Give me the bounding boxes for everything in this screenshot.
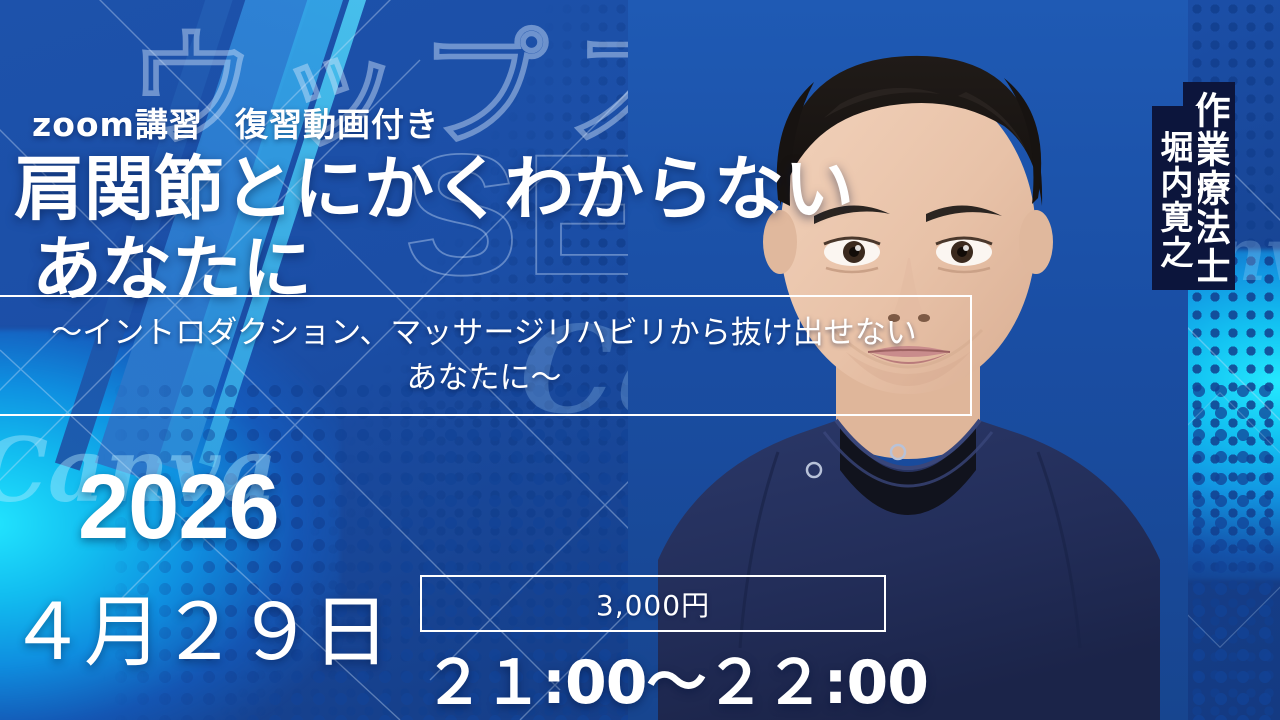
title-line-1: 肩関節とにかくわからない (14, 148, 854, 230)
page-title: 肩関節とにかくわからない あなたに (14, 150, 854, 310)
event-time: ２１:00〜２２:00 (424, 634, 928, 720)
price-box: 3,000円 (420, 575, 886, 632)
kicker-right: 復習動画付き (235, 105, 439, 144)
kicker-left: zoom講習 (32, 105, 203, 144)
subtitle-line-2: あなたに〜 (407, 356, 562, 400)
speaker-name-plate: 堀内寛之 (1152, 106, 1198, 290)
seminar-banner: ウップス主催 SEMINAR Canva Canva Canva (0, 0, 1280, 720)
event-year: 2026 (78, 455, 279, 560)
price-label: 3,000円 (596, 584, 710, 624)
subtitle-box: 〜イントロダクション、マッサージリハビリから抜け出せない あなたに〜 (0, 295, 972, 416)
subtitle-line-1: 〜イントロダクション、マッサージリハビリから抜け出せない (51, 311, 917, 355)
kicker-text: zoom講習復習動画付き (32, 98, 439, 146)
event-date: ４月２９日 (8, 570, 388, 682)
